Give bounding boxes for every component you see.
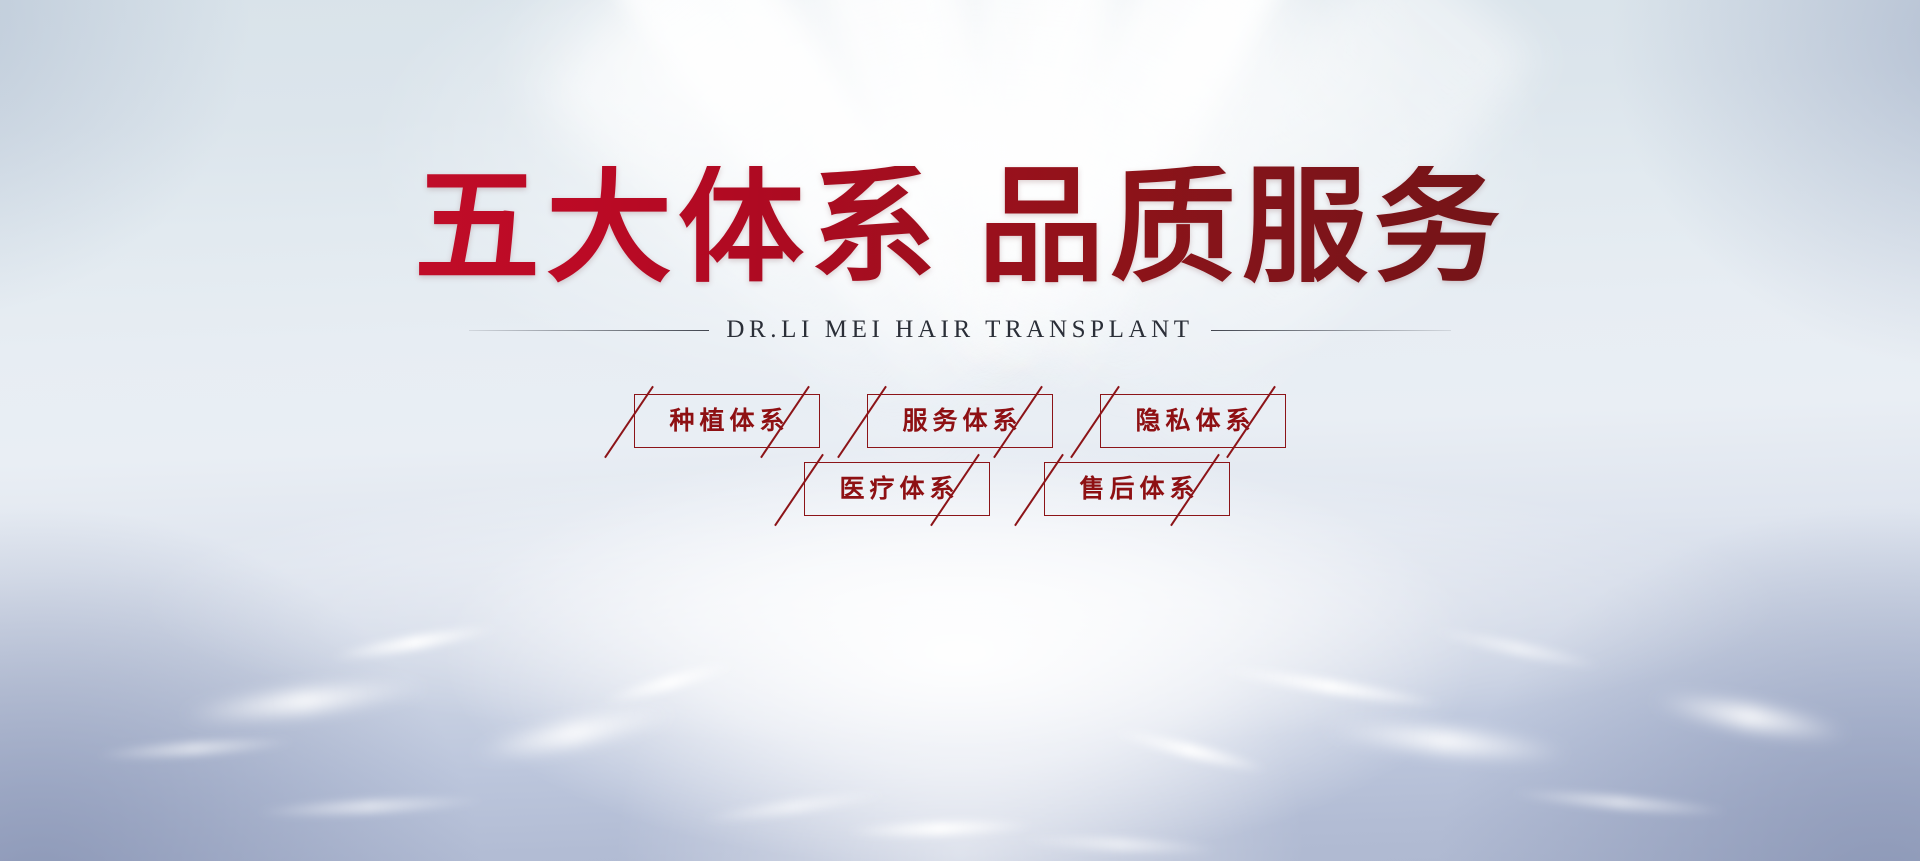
page-title-part-2: 品质服务	[978, 159, 1506, 298]
system-tag-label: 服务体系	[897, 409, 1022, 434]
page-title: 五大体系品质服务	[414, 166, 1506, 292]
system-tag-row-1: 种植体系 服务体系 隐私体系	[634, 394, 1286, 448]
subtitle-text: DR.LI MEI HAIR TRANSPLANT	[709, 316, 1210, 344]
slash-left-icon	[1014, 454, 1064, 526]
system-tag-planting[interactable]: 种植体系	[634, 394, 820, 448]
system-tag-group: 种植体系 服务体系 隐私体系 医疗体系	[634, 394, 1286, 516]
system-tag-label: 售后体系	[1074, 477, 1199, 502]
system-tag-label: 医疗体系	[834, 477, 959, 502]
system-tag-service[interactable]: 服务体系	[867, 394, 1053, 448]
system-tag-medical[interactable]: 医疗体系	[804, 462, 990, 516]
slash-left-icon	[1070, 386, 1120, 458]
system-tag-aftersales[interactable]: 售后体系	[1044, 462, 1230, 516]
subtitle-divider: DR.LI MEI HAIR TRANSPLANT	[469, 316, 1451, 344]
system-tag-label: 隐私体系	[1130, 409, 1255, 434]
slash-left-icon	[604, 386, 654, 458]
page-title-part-1: 五大体系	[414, 159, 942, 298]
promo-banner: 五大体系品质服务 DR.LI MEI HAIR TRANSPLANT 种植体系 …	[0, 0, 1920, 861]
slash-left-icon	[774, 454, 824, 526]
divider-line-left	[469, 330, 709, 331]
divider-line-right	[1211, 330, 1451, 331]
system-tag-privacy[interactable]: 隐私体系	[1100, 394, 1286, 448]
system-tag-label: 种植体系	[664, 409, 789, 434]
slash-left-icon	[837, 386, 887, 458]
system-tag-row-2: 医疗体系 售后体系	[690, 462, 1230, 516]
